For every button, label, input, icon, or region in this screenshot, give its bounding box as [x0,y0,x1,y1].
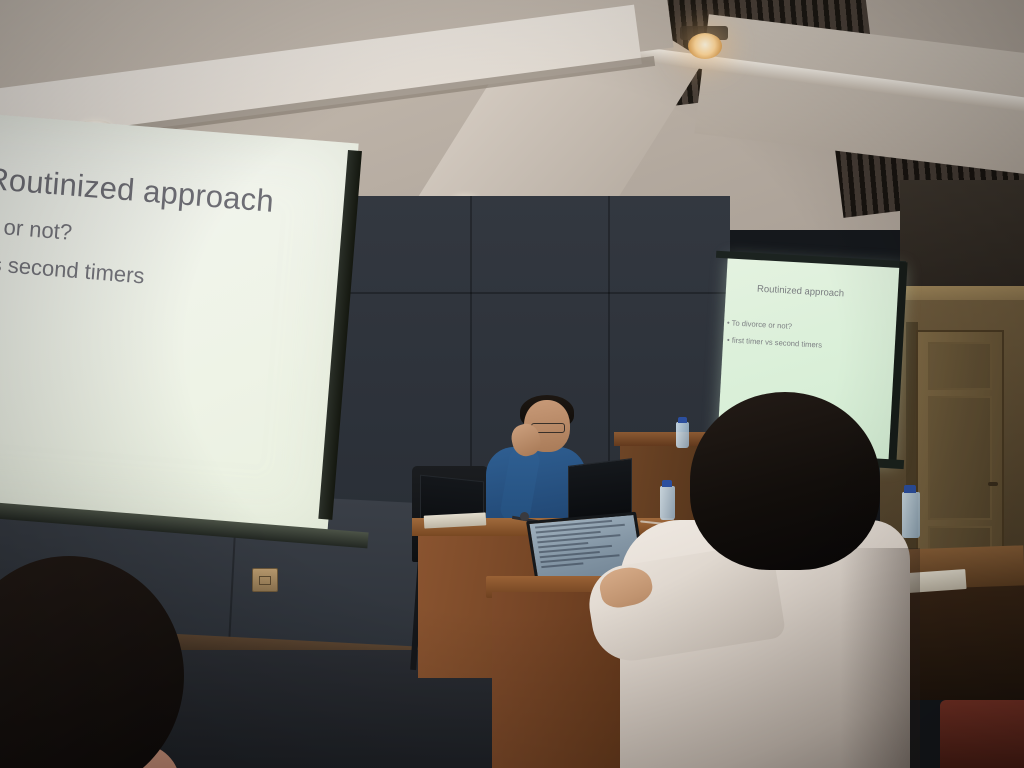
ceiling-spotlight [688,33,722,59]
upper-right-wall [900,180,1024,295]
wall-seam [608,196,610,496]
bottle-cap-icon [678,417,687,423]
wall-seam [330,292,730,294]
water-bottle[interactable] [660,486,675,520]
water-bottle[interactable] [902,492,920,538]
right-chair[interactable] [940,700,1024,768]
bottle-cap-icon [904,485,916,493]
bottle-cap-icon [662,480,672,487]
microphone[interactable] [520,512,529,521]
water-bottle[interactable] [676,422,689,448]
attendee-hair [690,392,880,570]
wall-power-socket[interactable] [252,568,278,592]
door-handle-icon [988,482,998,486]
attendee-shadow [840,548,920,768]
lecture-room-photo: Routinized approach ce or not? r vs seco… [0,0,1024,768]
